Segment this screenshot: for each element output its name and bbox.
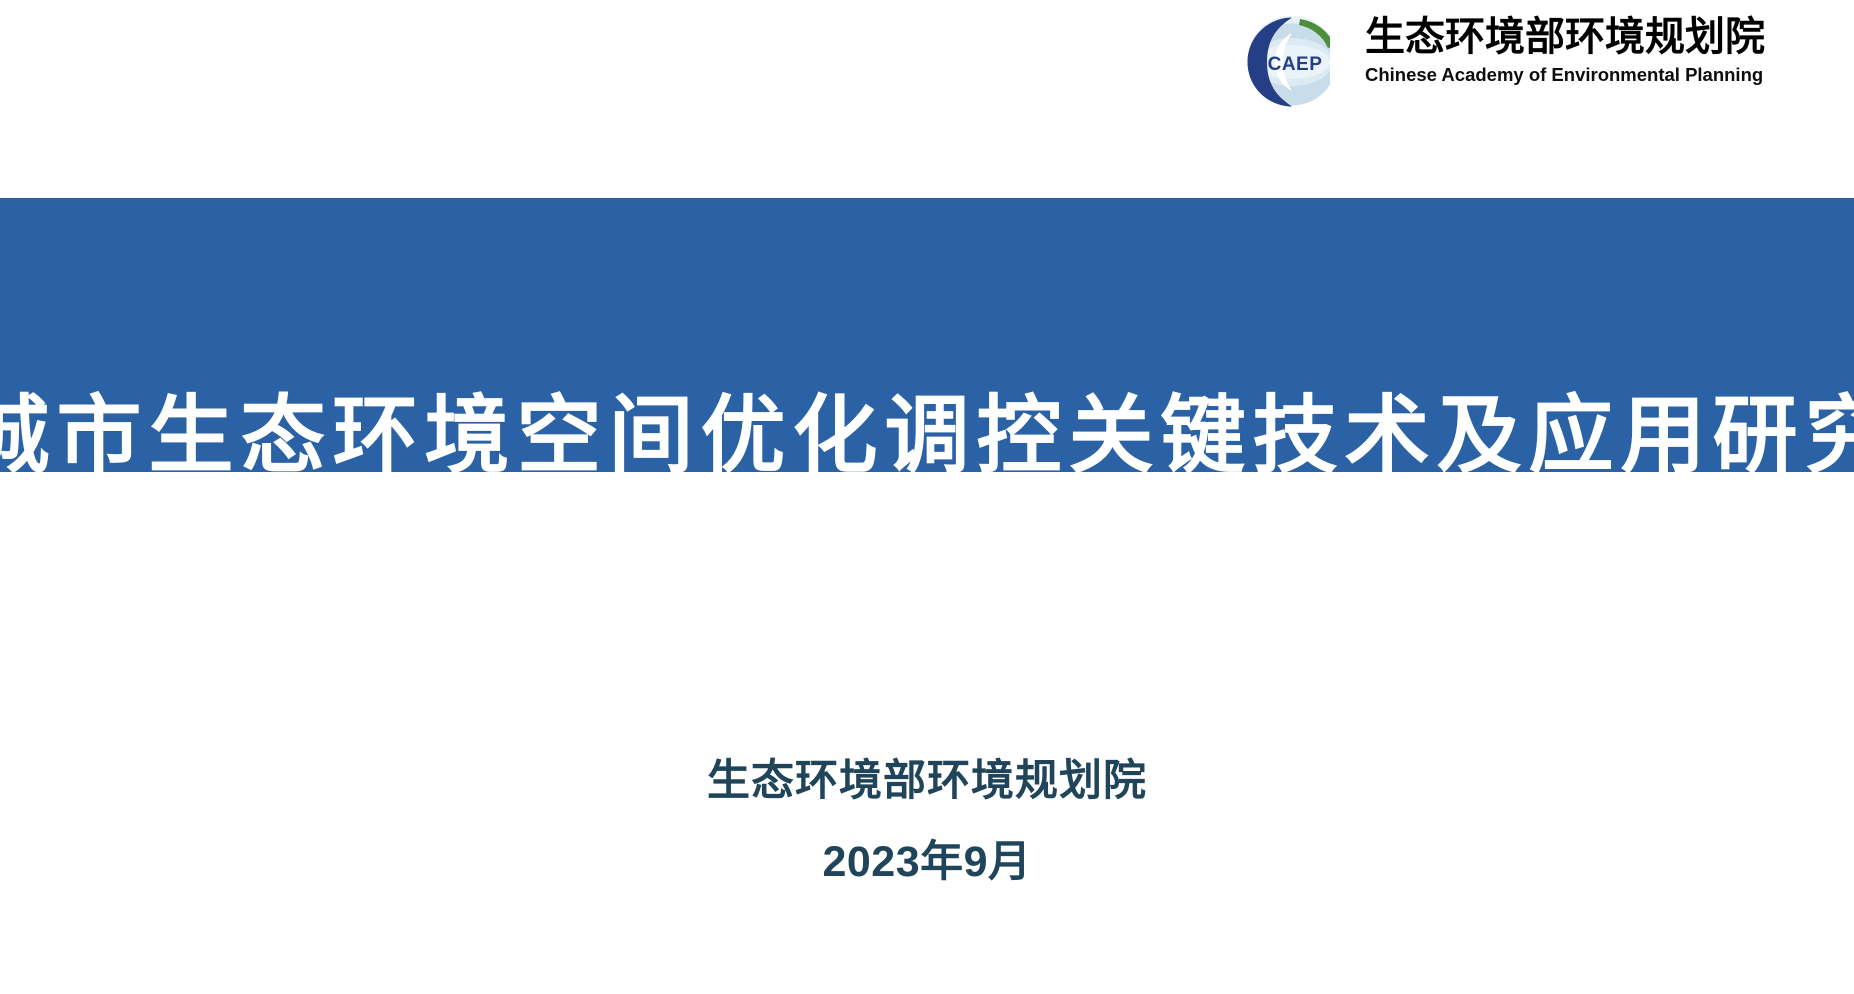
footer-organization: 生态环境部环境规划院 xyxy=(0,760,1854,803)
page-title: 城市生态环境空间优化调控关键技术及应用研究 xyxy=(0,394,1854,472)
footer-block: 生态环境部环境规划院 2023年9月 xyxy=(0,760,1854,884)
footer-date: 2023年9月 xyxy=(0,841,1854,884)
title-band: 城市生态环境空间优化调控关键技术及应用研究 xyxy=(0,198,1854,472)
organization-name-block: 生态环境部环境规划院 Chinese Academy of Environmen… xyxy=(1365,16,1765,86)
presentation-title-slide: CAEP 生态环境部环境规划院 Chinese Academy of Envir… xyxy=(0,0,1854,994)
organization-header: CAEP 生态环境部环境规划院 Chinese Academy of Envir… xyxy=(1245,0,1854,130)
organization-name-cn: 生态环境部环境规划院 xyxy=(1365,16,1765,59)
caep-globe-logo-icon: CAEP xyxy=(1245,16,1339,108)
organization-name-en: Chinese Academy of Environmental Plannin… xyxy=(1365,65,1763,85)
svg-text:CAEP: CAEP xyxy=(1268,54,1323,75)
logo-edge-mask xyxy=(1330,16,1339,108)
